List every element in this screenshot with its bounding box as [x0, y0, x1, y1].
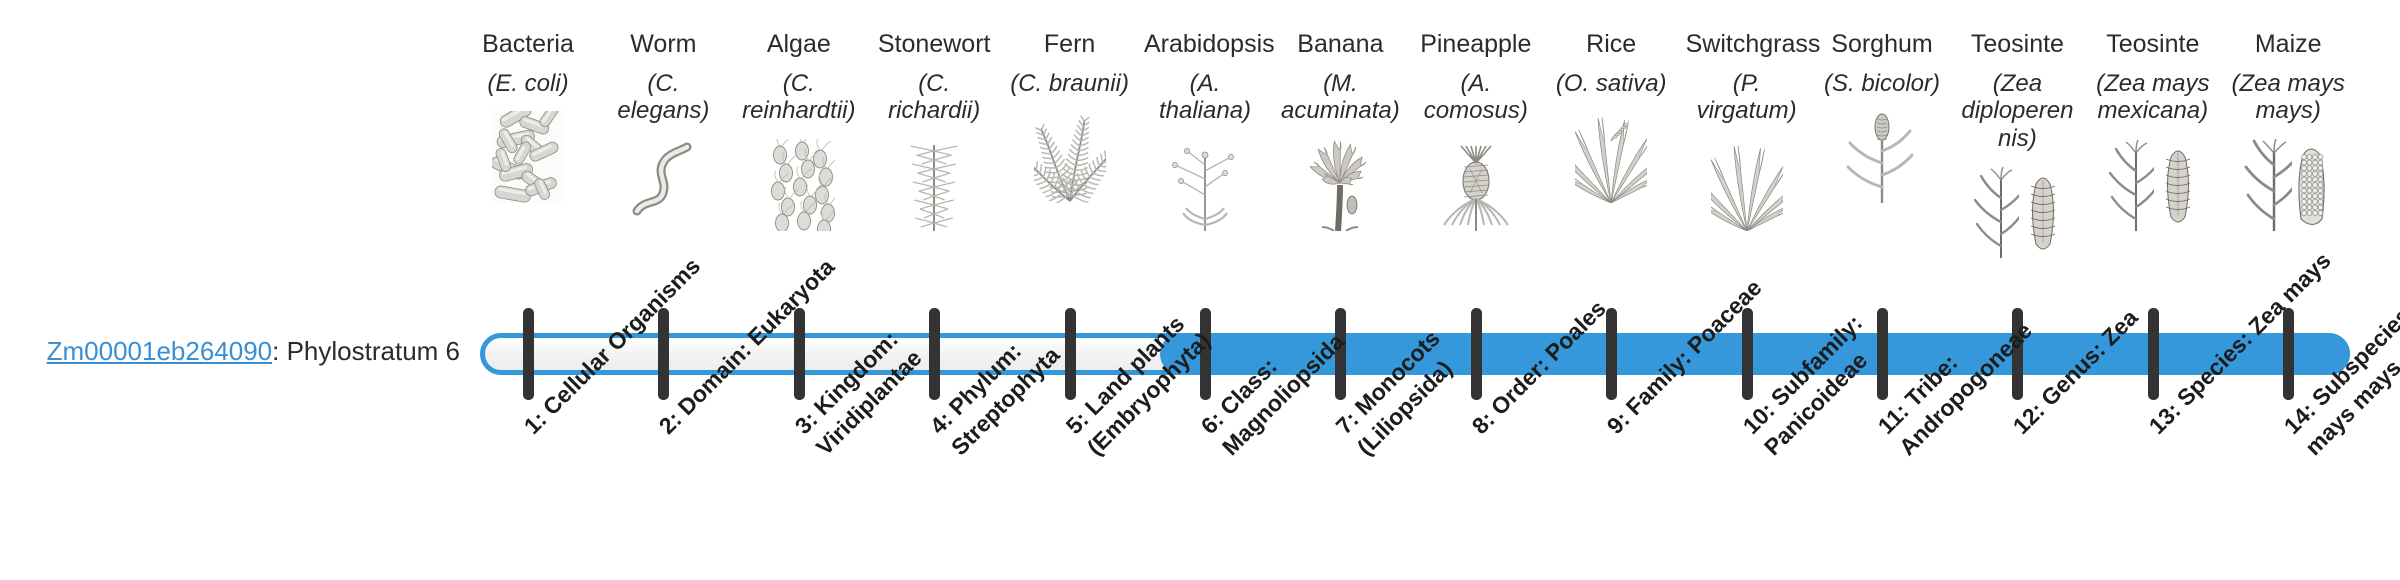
- phylostratum-tick-3: [794, 308, 805, 400]
- species-scientific-name: (P. virgatum): [1686, 70, 1808, 125]
- species-scientific-name: (E. coli): [467, 70, 589, 97]
- species-scientific-name: (Zea mays mays): [2227, 70, 2349, 125]
- species-column-13: Teosinte(Zea mays mexicana): [2092, 30, 2214, 231]
- fern-illustration: [1009, 103, 1131, 203]
- species-common-name: Stonewort: [873, 30, 995, 59]
- species-column-5: Fern(C. braunii): [1009, 30, 1131, 203]
- species-common-name: Switchgrass: [1686, 30, 1808, 59]
- phylostratum-tick-10: [1742, 308, 1753, 400]
- species-common-name: Banana: [1279, 30, 1401, 59]
- pineapple-illustration: [1415, 131, 1537, 231]
- stonewort-illustration: [873, 131, 995, 231]
- bacteria-illustration: [467, 103, 589, 203]
- banana-illustration: [1279, 131, 1401, 231]
- species-column-10: Switchgrass(P. virgatum): [1686, 30, 1808, 231]
- species-scientific-name: (O. sativa): [1550, 70, 1672, 97]
- phylostratum-tick-13: [2148, 308, 2159, 400]
- species-scientific-name: (Zea mays mexicana): [2092, 70, 2214, 125]
- switchgrass-illustration: [1686, 131, 1808, 231]
- phylostratum-tick-14: [2283, 308, 2294, 400]
- gene-phylostratum-label: Zm00001eb264090: Phylostratum 6: [40, 336, 460, 367]
- species-column-9: Rice(O. sativa): [1550, 30, 1672, 203]
- phylostratum-tick-2: [658, 308, 669, 400]
- species-common-name: Worm: [602, 30, 724, 59]
- species-scientific-name: (C. braunii): [1009, 70, 1131, 97]
- species-common-name: Fern: [1009, 30, 1131, 59]
- phylostratum-tick-1: [523, 308, 534, 400]
- species-scientific-name: (C. reinhardtii): [738, 70, 860, 125]
- species-column-11: Sorghum(S. bicolor): [1821, 30, 1943, 203]
- species-column-6: Arabidopsis(A. thaliana): [1144, 30, 1266, 231]
- gene-id-link[interactable]: Zm00001eb264090: [47, 336, 273, 366]
- phylostratum-tick-9: [1606, 308, 1617, 400]
- species-column-3: Algae(C. reinhardtii): [738, 30, 860, 231]
- gene-phylostratum-value: Phylostratum 6: [287, 336, 460, 366]
- rice-illustration: [1550, 103, 1672, 203]
- species-column-12: Teosinte(Zea diploperennis): [1956, 30, 2078, 258]
- species-column-7: Banana(M. acuminata): [1279, 30, 1401, 231]
- phylostratum-number: 13:: [2144, 397, 2186, 439]
- species-column-1: Bacteria(E. coli): [467, 30, 589, 203]
- species-scientific-name: (Zea diploperennis): [1956, 70, 2078, 152]
- species-common-name: Rice: [1550, 30, 1672, 59]
- worm-illustration: [602, 131, 724, 231]
- species-common-name: Pineapple: [1415, 30, 1537, 59]
- sorghum-illustration: [1821, 103, 1943, 203]
- species-scientific-name: (A. comosus): [1415, 70, 1537, 125]
- species-scientific-name: (C. elegans): [602, 70, 724, 125]
- species-column-4: Stonewort(C. richardii): [873, 30, 995, 231]
- species-scientific-name: (A. thaliana): [1144, 70, 1266, 125]
- teosinte-mexicana-illustration: [2092, 131, 2214, 231]
- species-common-name: Algae: [738, 30, 860, 59]
- species-common-name: Sorghum: [1821, 30, 1943, 59]
- gene-label-separator: :: [272, 336, 286, 366]
- phylostratigraphy-figure: Zm00001eb264090: Phylostratum 6 Bacteria…: [0, 0, 2400, 580]
- species-column-2: Worm(C. elegans): [602, 30, 724, 231]
- species-common-name: Bacteria: [467, 30, 589, 59]
- maize-illustration: [2227, 131, 2349, 231]
- species-scientific-name: (S. bicolor): [1821, 70, 1943, 97]
- species-scientific-name: (M. acuminata): [1279, 70, 1401, 125]
- species-scientific-name: (C. richardii): [873, 70, 995, 125]
- species-common-name: Teosinte: [1956, 30, 2078, 59]
- species-common-name: Maize: [2227, 30, 2349, 59]
- species-column-8: Pineapple(A. comosus): [1415, 30, 1537, 231]
- phylostratum-number: 12:: [2008, 397, 2050, 439]
- arabidopsis-illustration: [1144, 131, 1266, 231]
- species-column-14: Maize(Zea mays mays): [2227, 30, 2349, 231]
- species-common-name: Teosinte: [2092, 30, 2214, 59]
- species-common-name: Arabidopsis: [1144, 30, 1266, 59]
- algae-illustration: [738, 131, 860, 231]
